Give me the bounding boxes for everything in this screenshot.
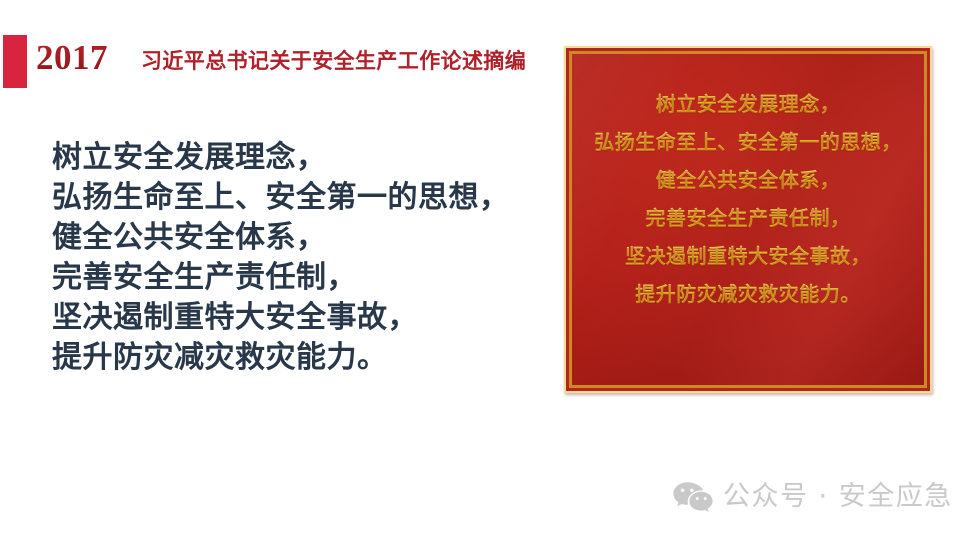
wechat-icon (672, 481, 714, 513)
statement-line: 弘扬生命至上、安全第一的思想， (52, 178, 532, 218)
statement-line: 坚决遏制重特大安全事故， (52, 298, 532, 338)
poster-line: 坚决遏制重特大安全事故， (625, 237, 871, 275)
statement-line: 完善安全生产责任制， (52, 258, 532, 298)
poster-inner-frame: 树立安全发展理念， 弘扬生命至上、安全第一的思想， 健全公共安全体系， 完善安全… (569, 51, 927, 388)
statement-text-block: 树立安全发展理念， 弘扬生命至上、安全第一的思想， 健全公共安全体系， 完善安全… (52, 138, 532, 378)
statement-line: 提升防灾减灾救灾能力。 (52, 338, 532, 378)
poster-line: 弘扬生命至上、安全第一的思想， (594, 123, 902, 161)
poster-card: 树立安全发展理念， 弘扬生命至上、安全第一的思想， 健全公共安全体系， 完善安全… (564, 46, 932, 393)
header-year-label: 2017 (36, 36, 108, 80)
poster-line: 完善安全生产责任制， (646, 199, 851, 237)
page-title: 习近平总书记关于安全生产工作论述摘编 (141, 46, 526, 76)
poster-line: 健全公共安全体系， (656, 161, 841, 199)
statement-line: 健全公共安全体系， (52, 218, 532, 258)
watermark: 公众号 · 安全应急 (672, 481, 953, 513)
slide-canvas: 2017 习近平总书记关于安全生产工作论述摘编 树立安全发展理念， 弘扬生命至上… (0, 0, 960, 540)
poster-line: 树立安全发展理念， (656, 85, 841, 123)
statement-line: 树立安全发展理念， (52, 138, 532, 178)
poster-line: 提升防灾减灾救灾能力。 (635, 275, 861, 313)
watermark-label: 公众号 · 安全应急 (723, 481, 953, 513)
header-accent-bar (3, 35, 27, 88)
